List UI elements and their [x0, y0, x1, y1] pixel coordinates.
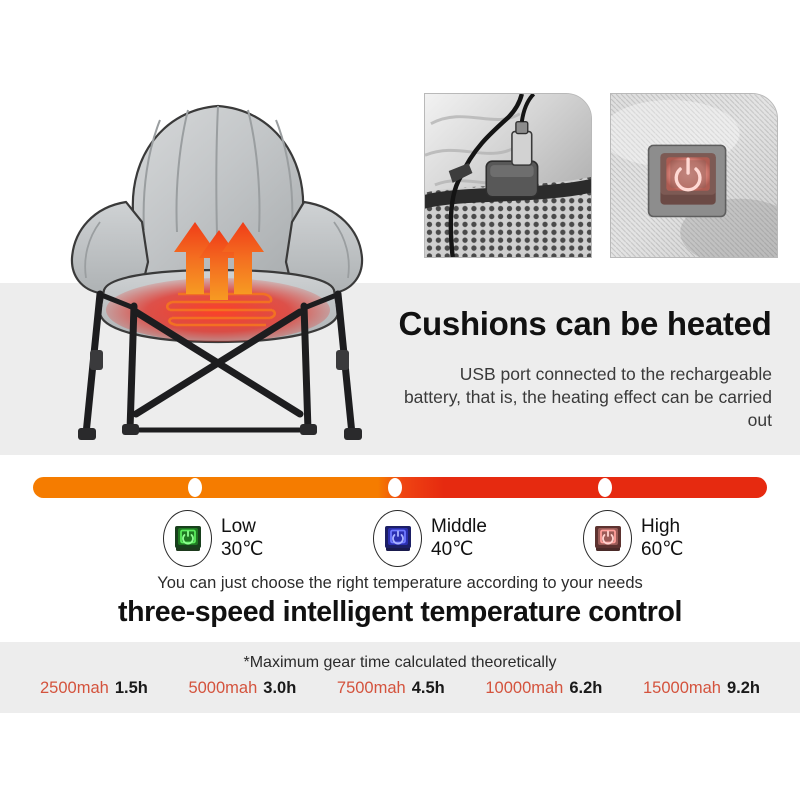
level-middle-oval	[373, 510, 422, 567]
power-button-icon-green	[173, 523, 203, 555]
tagline: three-speed intelligent temperature cont…	[0, 596, 800, 629]
slider-handle-high[interactable]	[598, 478, 612, 497]
level-middle-name: Middle	[431, 516, 487, 538]
level-low-text: Low 30℃	[221, 516, 263, 560]
level-high-oval	[583, 510, 632, 567]
slider-handle-low[interactable]	[188, 478, 202, 497]
product-feature-page: Cushions can be heated USB port connecte…	[0, 0, 800, 800]
battery-note: *Maximum gear time calculated theoretica…	[0, 654, 800, 672]
battery-runtime: 1.5h	[115, 679, 148, 698]
battery-cell: 10000mah 6.2h	[485, 679, 602, 698]
level-middle-temp: 40℃	[431, 539, 487, 561]
level-middle-text: Middle 40℃	[431, 516, 487, 560]
battery-capacity: 10000mah	[485, 679, 563, 698]
power-button-icon-red	[593, 523, 623, 555]
battery-gray-band	[0, 642, 800, 713]
level-high-text: High 60℃	[641, 516, 683, 560]
temperature-level-middle[interactable]: Middle 40℃	[373, 510, 487, 567]
battery-runtime: 6.2h	[569, 679, 602, 698]
slider-handle-middle[interactable]	[388, 478, 402, 497]
control-button-photo	[610, 93, 778, 258]
battery-cell: 15000mah 9.2h	[643, 679, 760, 698]
choose-temperature-note: You can just choose the right temperatur…	[0, 574, 800, 593]
feature-subtitle: USB port connected to the rechargeable b…	[398, 363, 772, 432]
level-low-temp: 30℃	[221, 539, 263, 561]
battery-runtime-row: 2500mah 1.5h 5000mah 3.0h 7500mah 4.5h 1…	[40, 679, 760, 698]
battery-capacity: 7500mah	[337, 679, 406, 698]
temperature-level-high[interactable]: High 60℃	[583, 510, 683, 567]
battery-capacity: 15000mah	[643, 679, 721, 698]
level-low-name: Low	[221, 516, 263, 538]
usb-port-mesh-pocket-photo	[424, 93, 592, 258]
temperature-level-low[interactable]: Low 30℃	[163, 510, 263, 567]
battery-cell: 5000mah 3.0h	[188, 679, 296, 698]
battery-runtime: 4.5h	[412, 679, 445, 698]
level-low-oval	[163, 510, 212, 567]
battery-cell: 2500mah 1.5h	[40, 679, 148, 698]
battery-capacity: 5000mah	[188, 679, 257, 698]
battery-capacity: 2500mah	[40, 679, 109, 698]
battery-runtime: 9.2h	[727, 679, 760, 698]
chair-product-image	[38, 62, 398, 452]
level-high-temp: 60℃	[641, 539, 683, 561]
power-button-icon-blue	[383, 523, 413, 555]
battery-runtime: 3.0h	[263, 679, 296, 698]
level-high-name: High	[641, 516, 683, 538]
battery-cell: 7500mah 4.5h	[337, 679, 445, 698]
feature-headline: Cushions can be heated	[398, 306, 772, 342]
